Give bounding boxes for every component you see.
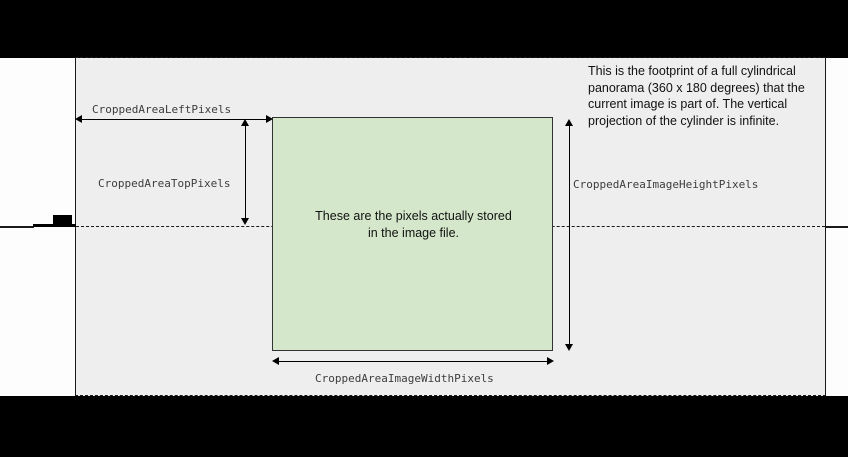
arrow-head-bottom-icon [565,344,573,351]
cropped-area-image-height-pixels-arrow [565,119,574,351]
footprint-explanation-note: This is the footprint of a full cylindri… [588,63,826,129]
arrow-head-right-icon [547,357,554,365]
arrow-shaft [245,123,246,221]
footprint-left-border [75,58,76,396]
horizon-line-left-extension-thick [33,224,76,227]
cropped-area-image-width-pixels-arrow [272,357,554,366]
horizon-left-marker-block [53,215,72,224]
stored-image-rectangle: These are the pixels actually stored in … [272,117,553,351]
arrow-head-right-icon [266,115,273,123]
cropped-area-top-pixels-arrow [241,119,250,225]
horizon-line-left-extension-thin [0,226,34,228]
arrow-shaft [276,361,550,362]
diagram-canvas: These are the pixels actually stored in … [0,0,848,457]
label-cropped-area-top-pixels: CroppedAreaTopPixels [98,177,230,190]
label-cropped-area-image-height-pixels: CroppedAreaImageHeightPixels [573,178,758,191]
horizon-line-right-extension [826,226,848,228]
arrow-shaft [569,123,570,347]
footprint-top-dashed-border [75,57,826,58]
label-cropped-area-left-pixels: CroppedAreaLeftPixels [92,103,231,116]
label-cropped-area-image-width-pixels: CroppedAreaImageWidthPixels [315,372,494,385]
arrow-head-bottom-icon [241,218,249,225]
stored-image-caption: These are the pixels actually stored in … [273,208,554,242]
footprint-bottom-dashed-border [75,395,826,396]
